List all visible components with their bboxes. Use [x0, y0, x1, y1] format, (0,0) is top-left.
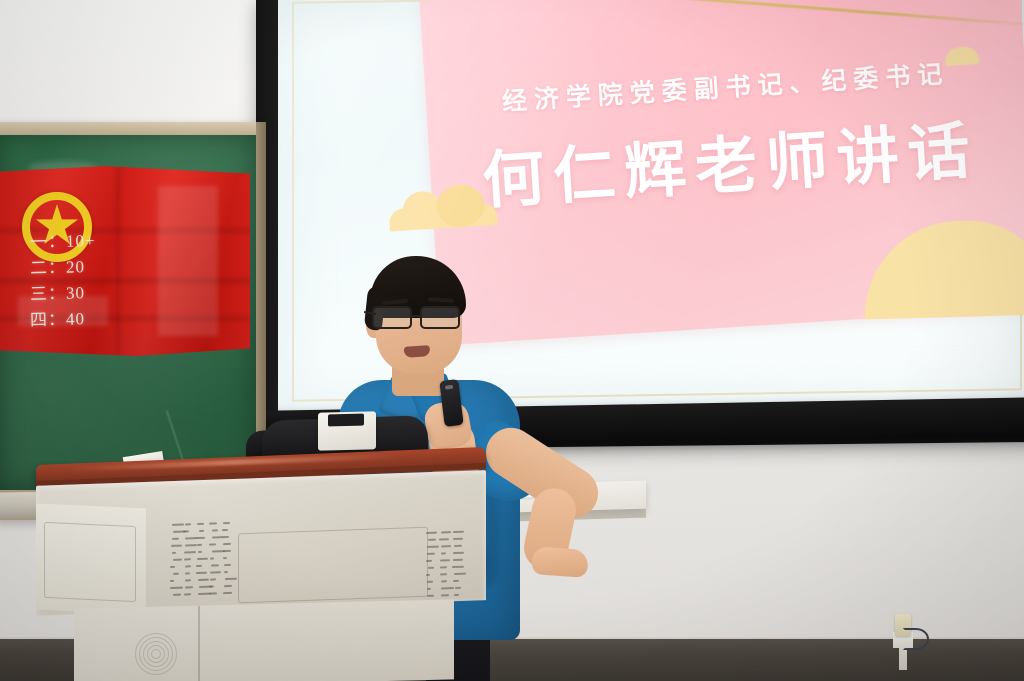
blackboard-note-line: 二：20	[30, 252, 161, 281]
lectern-base-seam	[198, 606, 200, 681]
lectern-speaker-grill	[136, 632, 176, 676]
lecture-hall-photo: 经济学院党委副书记、纪委书记 何仁辉老师讲话	[0, 0, 1024, 681]
document-camera-slot	[328, 414, 364, 427]
glasses-icon	[370, 306, 472, 330]
blackboard-note-line: 三：30	[30, 278, 161, 307]
speaker-mouth	[404, 345, 431, 358]
lectern-left-panel	[44, 522, 136, 602]
blackboard-notes: 一：10+ 二：20 三：30 四：40	[30, 228, 160, 332]
blackboard-frame-top	[0, 122, 266, 136]
power-cable-loop	[903, 628, 929, 650]
blackboard-note-line: 四：40	[30, 304, 161, 333]
speaker-hand-left	[531, 546, 589, 578]
lectern-front-panel	[238, 527, 428, 604]
cloud-shape-decor	[387, 183, 500, 234]
blackboard-note-line: 一：10+	[30, 226, 161, 255]
lectern-base	[74, 599, 454, 681]
lectern	[28, 452, 486, 681]
